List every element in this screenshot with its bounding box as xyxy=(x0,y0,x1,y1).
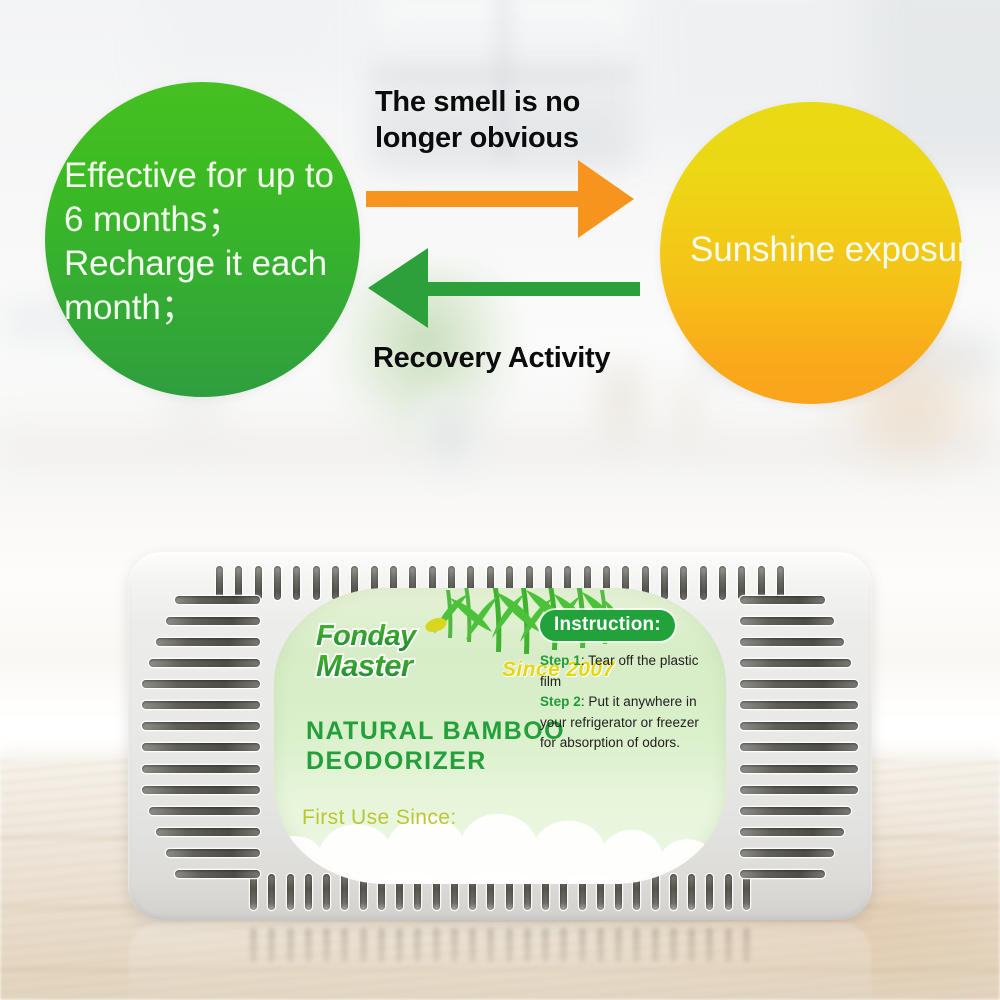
background-jar xyxy=(660,376,714,464)
step-2-label: Step 2 xyxy=(540,694,581,709)
infographic-canvas: Effective for up to 6 months；Recharge it… xyxy=(0,0,1000,1000)
instruction-block: Instruction: Step 1: Tear off the plasti… xyxy=(540,610,716,754)
brand-name-line2: Master xyxy=(316,648,415,683)
instruction-step-2: Step 2: Put it anywhere in your refriger… xyxy=(540,692,716,754)
instruction-step-1: Step 1: Tear off the plastic film xyxy=(540,651,716,692)
benefit-bubble-duration: Effective for up to 6 months；Recharge it… xyxy=(45,82,360,397)
background-cabinet xyxy=(150,0,350,80)
vent-grille-right xyxy=(740,596,858,878)
forward-arrow-label: The smell is no longer obvious xyxy=(375,84,645,156)
window-mullion xyxy=(372,70,634,76)
background-vase xyxy=(412,392,488,484)
first-use-since-field: First Use Since: xyxy=(302,806,457,830)
vent-grille-left xyxy=(142,596,260,878)
benefit-bubble-sunshine: Sunshine exposure for 3-4 hours each mon… xyxy=(660,102,962,404)
product-name: NATURAL BAMBOO DEODORIZER xyxy=(306,716,565,776)
backward-arrow-label: Recovery Activity xyxy=(373,340,673,376)
instruction-heading: Instruction: xyxy=(540,610,675,641)
product-name-line2: DEODORIZER xyxy=(306,746,565,776)
benefit-bubble-sunshine-text: Sunshine exposure for 3-4 hours each mon… xyxy=(660,227,1000,273)
backward-arrow-icon xyxy=(362,248,640,328)
product-device: Fonday Master Since 2007 NATURAL BAMBOO … xyxy=(128,552,872,942)
benefit-bubble-duration-text: Effective for up to 6 months；Recharge it… xyxy=(45,154,360,330)
step-1-label: Step 1 xyxy=(540,653,581,668)
product-label: Fonday Master Since 2007 NATURAL BAMBOO … xyxy=(274,588,726,884)
product-name-line1: NATURAL BAMBOO xyxy=(306,716,565,746)
instruction-steps: Step 1: Tear off the plastic film Step 2… xyxy=(540,651,716,754)
forward-arrow-icon xyxy=(366,160,636,238)
device-shell: Fonday Master Since 2007 NATURAL BAMBOO … xyxy=(128,552,872,920)
